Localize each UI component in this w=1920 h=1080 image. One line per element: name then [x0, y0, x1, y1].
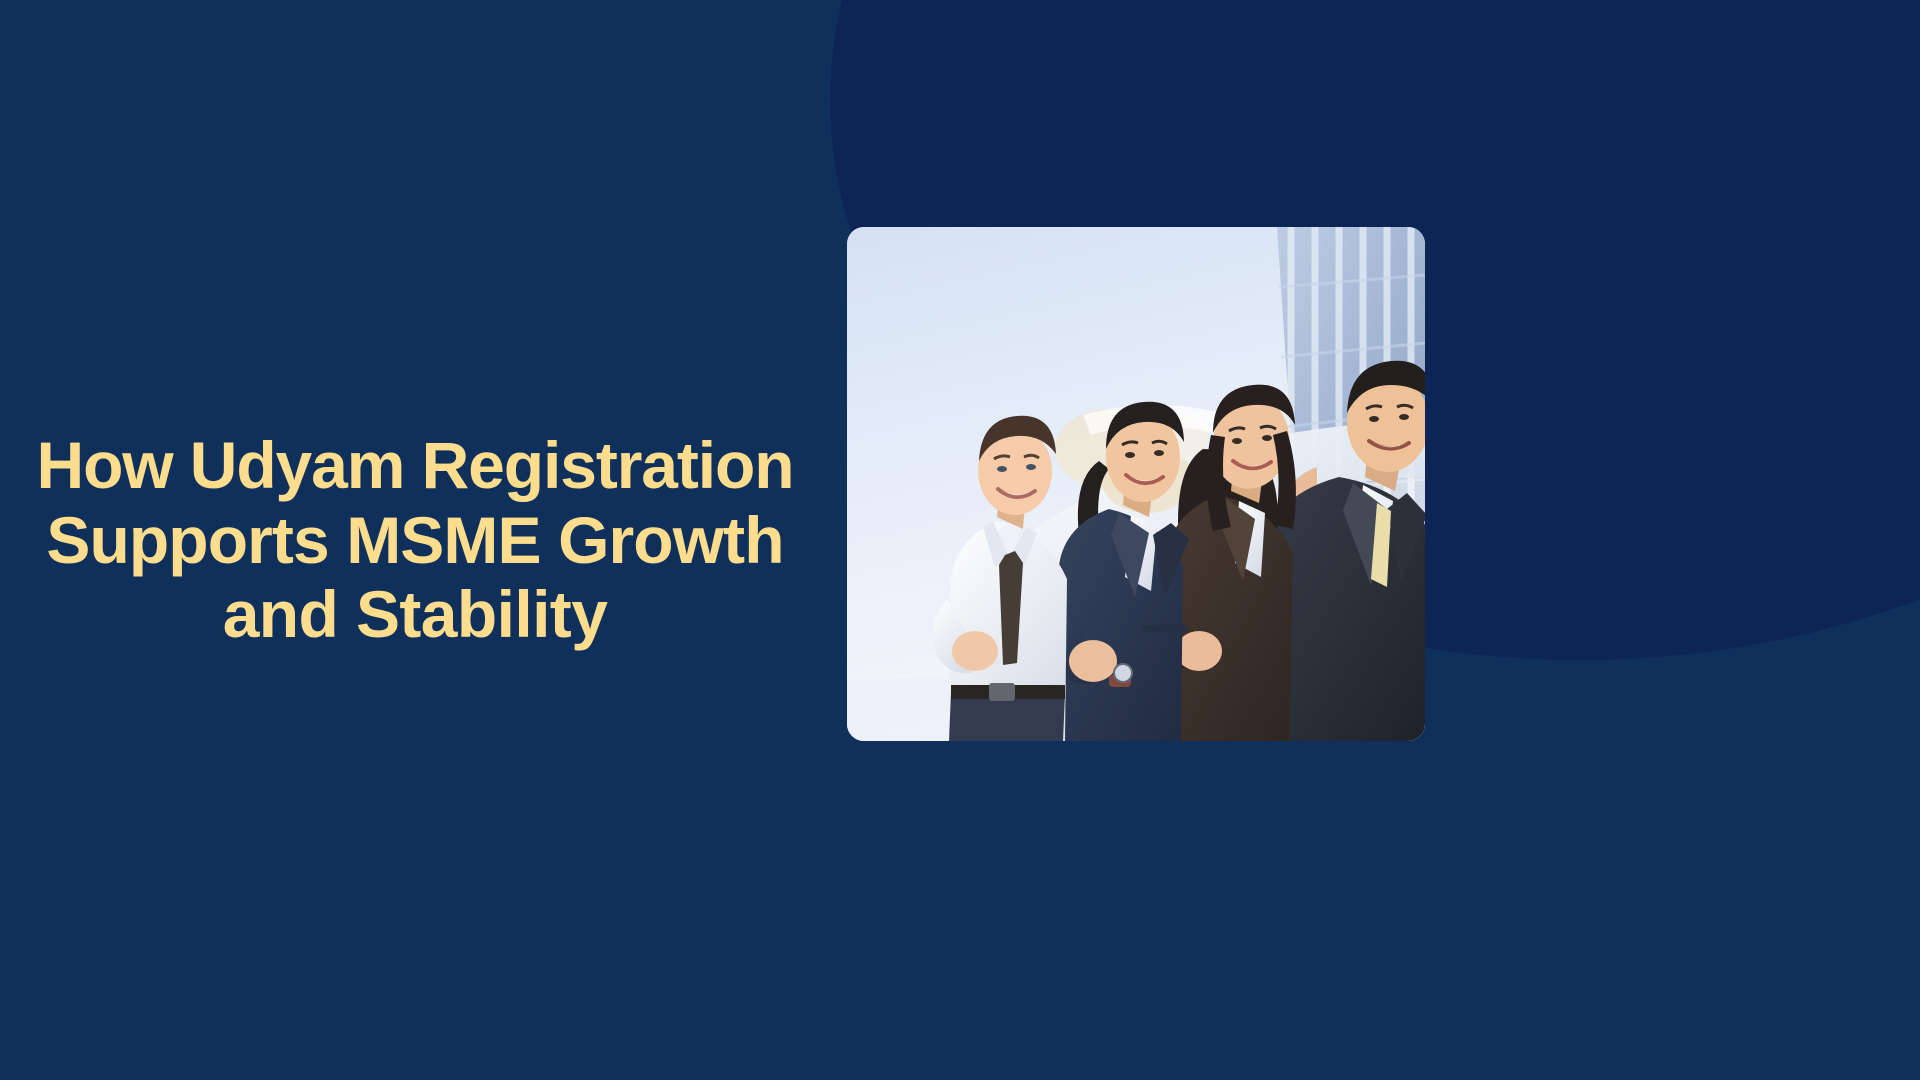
headline-line-2: Supports MSME Growth: [10, 503, 820, 578]
page-title: How Udyam Registration Supports MSME Gro…: [0, 428, 830, 652]
hero-banner: How Udyam Registration Supports MSME Gro…: [0, 0, 1920, 1080]
headline-column: How Udyam Registration Supports MSME Gro…: [0, 0, 830, 1080]
business-team-photo-illustration: [847, 227, 1425, 741]
business-team-photo: [847, 227, 1425, 741]
headline-line-3: and Stability: [10, 577, 820, 652]
headline-line-1: How Udyam Registration: [10, 428, 820, 503]
